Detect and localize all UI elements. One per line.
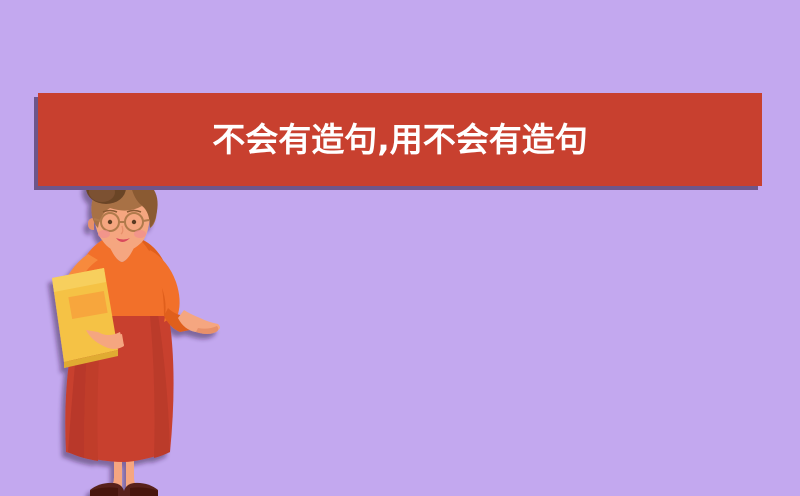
- shoes: [90, 483, 158, 496]
- character-group: [52, 190, 220, 496]
- title-banner: 不会有造句,用不会有造句: [38, 93, 762, 186]
- page-title: 不会有造句,用不会有造句: [212, 123, 588, 156]
- teacher-illustration: [18, 190, 238, 496]
- page-canvas: 不会有造句,用不会有造句: [0, 0, 800, 496]
